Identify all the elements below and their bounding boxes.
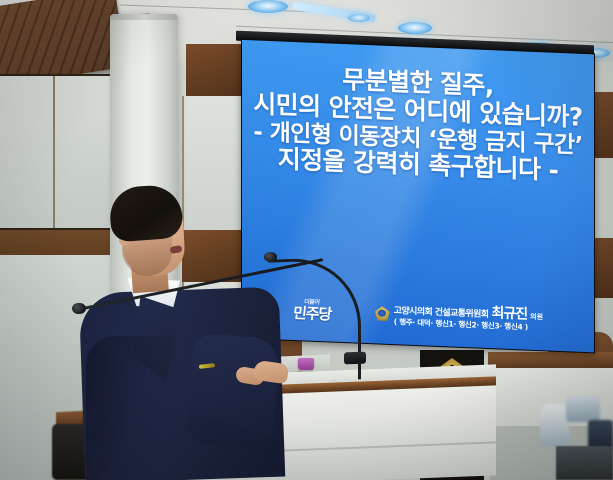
- desk-edge: [488, 352, 613, 368]
- microphone-base: [344, 352, 366, 365]
- council-person-role: 의원: [530, 314, 543, 322]
- downlight-icon: [398, 22, 432, 34]
- council-seal-icon: [375, 306, 390, 322]
- hair: [108, 184, 184, 243]
- downlight-icon: [348, 14, 370, 22]
- slide-text-block: 무분별한 질주, 시민의 안전은 어디에 있습니까? - 개인형 이동장치 ‘운…: [242, 40, 594, 187]
- speaker: [86, 186, 296, 480]
- wall-seam: [53, 76, 55, 234]
- council-credit-block: 고양시의회 건설교통위원회 최규진 의원 ( 행주· 대덕· 행신1· 행신2·…: [375, 301, 543, 332]
- background-object: [566, 396, 600, 422]
- foreground-object: [556, 446, 613, 480]
- microphone-capsule-icon: [72, 303, 86, 314]
- microphone-capsule-icon: [264, 252, 277, 262]
- screenshot-root: 의회 고양시의회 무분별한 질주, 시민의 안전은 어디에 있습니까? - 개인…: [0, 0, 613, 480]
- suit-sleeve: [186, 333, 279, 449]
- council-credit-text: 고양시의회 건설교통위원회 최규진 의원 ( 행주· 대덕· 행신1· 행신2·…: [394, 302, 543, 332]
- column-cap: [110, 14, 178, 20]
- downlight-icon: [248, 0, 288, 13]
